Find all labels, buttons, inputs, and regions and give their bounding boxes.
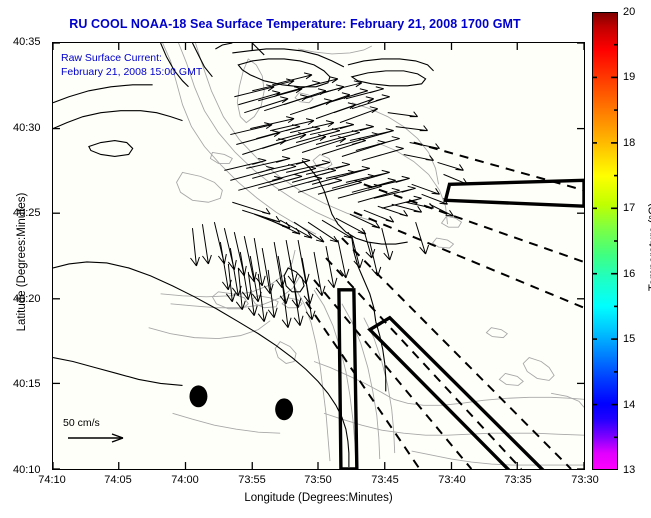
cbar-tick-0: 20 (623, 6, 635, 18)
ytick-1: 40:30 (13, 122, 41, 134)
ytick-5: 40:10 (13, 464, 41, 476)
right-arrow-icon (67, 432, 129, 447)
xtick-4: 73:50 (304, 474, 332, 486)
cbar-tick-6: 14 (623, 399, 635, 411)
xtick-3: 73:55 (238, 474, 266, 486)
surface-current-vectors (190, 73, 467, 328)
x-axis-title: Longitude (Degrees:Minutes) (52, 492, 585, 504)
xtick-7: 73:35 (504, 474, 532, 486)
station-markers (189, 385, 293, 420)
cbar-tick-1: 19 (623, 71, 635, 83)
sst-map-figure: RU COOL NOAA-18 Sea Surface Temperature:… (0, 0, 651, 518)
cbar-tick-5: 15 (623, 333, 635, 345)
map-plot-area[interactable]: Raw Surface Current: February 21, 2008 1… (52, 42, 585, 470)
map-graphics (53, 43, 584, 469)
cbar-tick-7: 13 (623, 464, 635, 476)
xtick-1: 74:05 (104, 474, 132, 486)
xtick-6: 73:40 (438, 474, 466, 486)
xtick-5: 73:45 (371, 474, 399, 486)
xtick-2: 74:00 (171, 474, 199, 486)
bathymetry-contours (149, 43, 584, 465)
cbar-tick-3: 17 (623, 202, 635, 214)
xtick-0: 74:10 (38, 474, 66, 486)
cbar-tick-2: 18 (623, 137, 635, 149)
xtick-8: 73:30 (571, 474, 599, 486)
axis-ticks (53, 43, 584, 469)
cbar-tick-4: 16 (623, 268, 635, 280)
dashed-radial-lines (306, 143, 584, 469)
scale-bar-label: 50 cm/s (63, 417, 129, 429)
y-axis-title: Latitude (Degrees:Minutes) (16, 152, 28, 372)
colorbar[interactable] (592, 12, 618, 470)
coastline (53, 43, 434, 467)
ytick-4: 40:15 (13, 378, 41, 390)
ytick-0: 40:35 (13, 36, 41, 48)
transect-boxes (339, 180, 584, 469)
figure-title: RU COOL NOAA-18 Sea Surface Temperature:… (0, 17, 590, 31)
scale-bar: 50 cm/s (63, 417, 129, 447)
